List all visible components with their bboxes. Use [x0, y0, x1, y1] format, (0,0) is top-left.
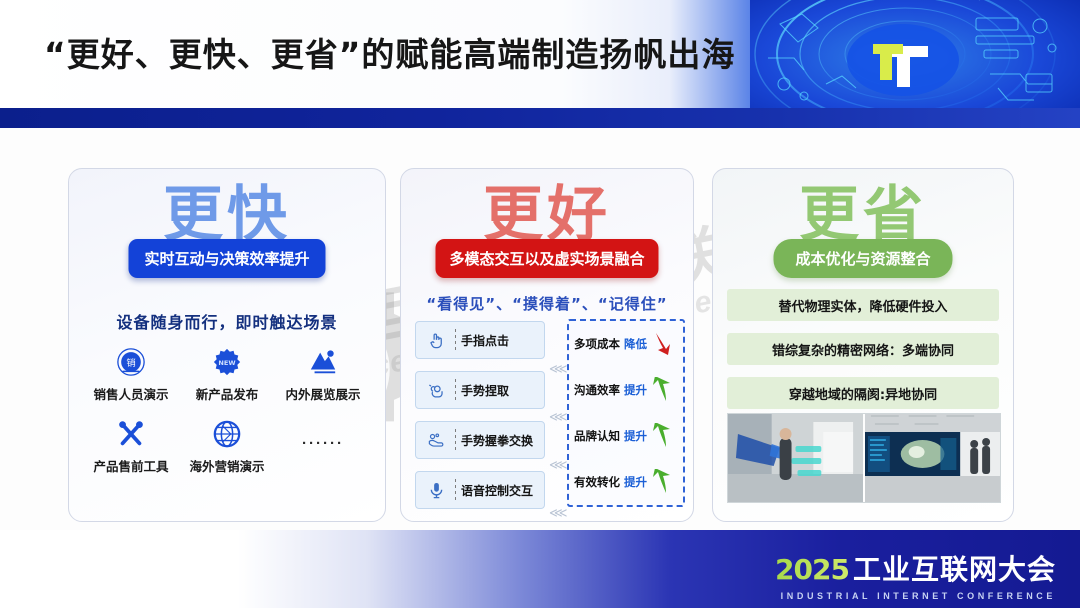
chevron-left-icon: ⋘ [549, 441, 567, 489]
list-item[interactable]: 销 销售人员演示 [83, 345, 179, 403]
panel-better-subtitle: “看得见”、“摸得着”、“记得住” [401, 293, 693, 314]
metric-value: 提升 [624, 474, 647, 490]
chip-divider [455, 479, 456, 501]
metric-name: 品牌认知 [574, 428, 620, 444]
chip-divider [455, 329, 456, 351]
header-accent-bar [0, 108, 1080, 128]
svg-text:销: 销 [126, 357, 135, 369]
list-item[interactable]: 手势握拳交换 [415, 421, 545, 459]
tools-icon [116, 417, 146, 451]
pinch-gesture-icon [422, 381, 450, 400]
chevron-left-icon: ⋘ [549, 393, 567, 441]
panel-cheaper[interactable]: 更省 成本优化与资源整合 替代物理实体，降低硬件投入 错综复杂的精密网络：多端协… [712, 168, 1014, 522]
metrics-box: 多项成本 降低 沟通效率 提升 品牌认知 提升 [567, 319, 685, 507]
svg-text:NEW: NEW [218, 359, 236, 367]
logo-year: 2025 [775, 553, 849, 586]
slide: “更好、更快、更省”的赋能高端制造扬帆出海 工业互联网产业联盟 Alliance… [0, 0, 1080, 608]
list-item[interactable]: 产品售前工具 [83, 417, 179, 475]
chevron-left-icon: ⋘ [549, 489, 567, 522]
panel-cheaper-pill[interactable]: 成本优化与资源整合 [773, 239, 952, 278]
list-item[interactable]: 内外展览展示 [275, 345, 371, 403]
new-product-badge-icon: NEW [212, 345, 242, 379]
panel-cheaper-headline: 更省 [713, 185, 1013, 245]
list-item-label: 内外展览展示 [285, 384, 360, 403]
panel-better-headline: 更好 [401, 185, 693, 245]
benefit-row-list: 替代物理实体，降低硬件投入 错综复杂的精密网络：多端协同 穿越地域的隔阂:异地协… [727, 289, 999, 421]
table-row: 沟通效率 提升 [569, 367, 683, 413]
finger-tap-icon [422, 331, 450, 350]
chip-divider [455, 379, 456, 401]
chip-divider [455, 429, 456, 451]
metric-value: 降低 [624, 336, 647, 352]
chevron-left-icon: ⋘ [549, 345, 567, 393]
flow-arrows: ⋘ ⋘ ⋘ ⋘ [549, 345, 567, 522]
list-item[interactable]: 错综复杂的精密网络：多端协同 [727, 333, 999, 365]
table-row: 品牌认知 提升 [569, 413, 683, 459]
exhibition-hall-screen-photo [865, 414, 1000, 502]
chip-label: 语音控制交互 [461, 482, 533, 499]
slide-header: “更好、更快、更省”的赋能高端制造扬帆出海 [0, 0, 1080, 108]
exhibition-icon [307, 345, 339, 379]
metric-name: 有效转化 [574, 474, 620, 490]
metric-value: 提升 [624, 382, 647, 398]
list-item-label: 产品售前工具 [93, 456, 168, 475]
faster-item-grid: 销 销售人员演示 NEW 新产品发布 [83, 345, 371, 475]
list-item[interactable]: 穿越地域的隔阂:异地协同 [727, 377, 999, 409]
fist-swap-icon [422, 431, 450, 450]
list-item[interactable]: 语音控制交互 [415, 471, 545, 509]
table-row: 多项成本 降低 [569, 321, 683, 367]
metric-name: 沟通效率 [574, 382, 620, 398]
metric-value: 提升 [624, 428, 647, 444]
arrow-down-icon [650, 331, 674, 357]
list-item[interactable]: NEW 新产品发布 [179, 345, 275, 403]
list-item-label: 新产品发布 [196, 384, 259, 403]
microphone-icon [422, 481, 450, 500]
list-item[interactable]: 手势捏取 [415, 371, 545, 409]
conference-logo: 2025 工业互联网大会 INDUSTRIAL INTERNET CONFERE… [775, 548, 1056, 601]
panel-faster[interactable]: 更快 实时互动与决策效率提升 设备随身而行，即时触达场景 销 销售人员演示 [68, 168, 386, 522]
interaction-chip-list: 手指点击 手势捏取 [415, 321, 545, 521]
panel-faster-pill[interactable]: 实时互动与决策效率提升 [128, 239, 325, 278]
logo-primary-line: 2025 工业互联网大会 [775, 548, 1056, 588]
panel-faster-subtitle: 设备随身而行，即时触达场景 [69, 309, 385, 333]
list-item[interactable]: 手指点击 [415, 321, 545, 359]
panel-faster-headline: 更快 [69, 185, 385, 245]
list-item-label: 销售人员演示 [93, 384, 168, 403]
list-item-label: 海外营销演示 [189, 456, 264, 475]
table-row: 有效转化 提升 [569, 459, 683, 505]
chip-label: 手势捏取 [461, 382, 509, 399]
panel-better[interactable]: 更好 多模态交互以及虚实场景融合 “看得见”、“摸得着”、“记得住” 手指点击 [400, 168, 694, 522]
chip-label: 手势握拳交换 [461, 432, 533, 449]
arrow-up-icon [650, 377, 674, 403]
chip-label: 手指点击 [461, 332, 509, 349]
globe-icon [212, 417, 242, 451]
list-item[interactable]: 替代物理实体，降低硬件投入 [727, 289, 999, 321]
slide-footer: 2025 工业互联网大会 INDUSTRIAL INTERNET CONFERE… [0, 530, 1080, 608]
logo-name-en: INDUSTRIAL INTERNET CONFERENCE [775, 591, 1056, 601]
sales-badge-icon: 销 [116, 345, 146, 379]
logo-name-cn: 工业互联网大会 [853, 548, 1056, 588]
metric-name: 多项成本 [574, 336, 620, 352]
ellipsis-label: ······ [302, 435, 344, 452]
arrow-up-icon [650, 469, 674, 495]
panel-better-pill[interactable]: 多模态交互以及虚实场景融合 [435, 239, 658, 278]
photo-strip [727, 413, 1001, 503]
arrow-up-icon [650, 423, 674, 449]
more-items-indicator: ······ [275, 417, 371, 475]
page-title: “更好、更快、更省”的赋能高端制造扬帆出海 [44, 28, 804, 76]
ar-holographic-demo-photo [728, 414, 863, 502]
list-item[interactable]: 海外营销演示 [179, 417, 275, 475]
